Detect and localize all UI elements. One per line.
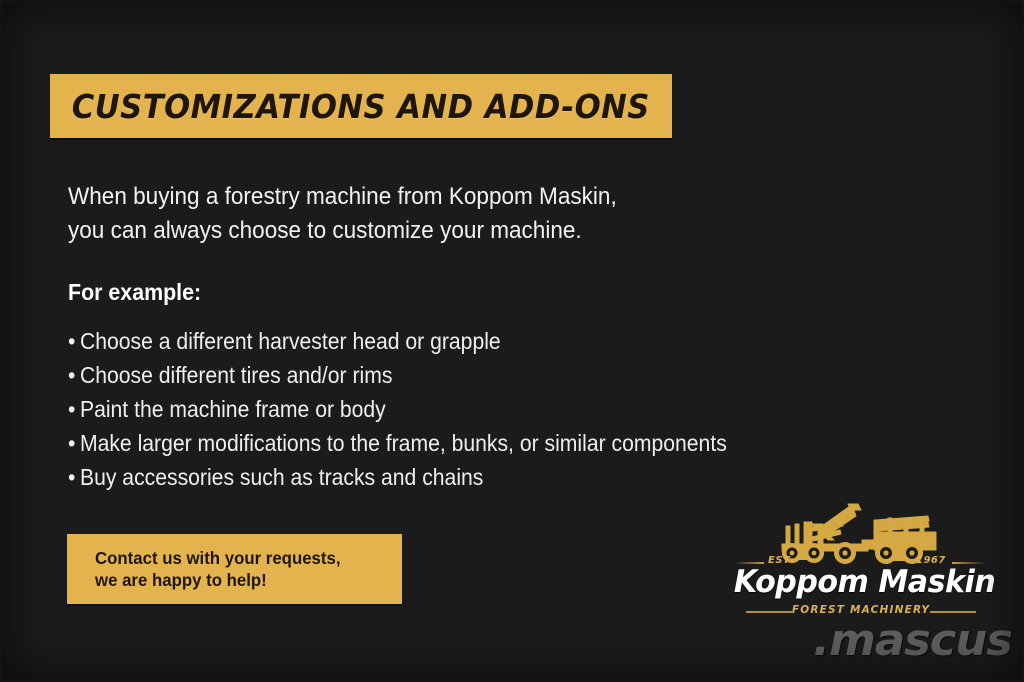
list-item-label: Choose a different harvester head or gra… — [80, 328, 501, 354]
list-item-label: Paint the machine frame or body — [80, 396, 386, 422]
title-banner: CUSTOMIZATIONS AND ADD-ONS — [50, 74, 672, 138]
bullet-icon: • — [68, 358, 80, 392]
bullet-icon: • — [68, 392, 80, 426]
intro-paragraph: When buying a forestry machine from Kopp… — [68, 180, 767, 248]
intro-line-1: When buying a forestry machine from Kopp… — [68, 180, 767, 214]
list-item: •Paint the machine frame or body — [68, 392, 850, 426]
list-item-label: Buy accessories such as tracks and chain… — [80, 464, 483, 490]
logo-tagline-rule-right — [930, 611, 976, 613]
mascus-watermark: .mascus — [749, 615, 1012, 666]
promotional-poster: CUSTOMIZATIONS AND ADD-ONS When buying a… — [0, 0, 1024, 682]
list-item: •Choose a different harvester head or gr… — [68, 324, 850, 358]
customization-options-list: •Choose a different harvester head or gr… — [68, 324, 918, 494]
bullet-icon: • — [68, 426, 80, 460]
intro-line-2: you can always choose to customize your … — [68, 214, 767, 248]
list-item: •Make larger modifications to the frame,… — [68, 426, 850, 460]
bullet-icon: • — [68, 324, 80, 358]
bullet-icon: • — [68, 460, 80, 494]
list-item-label: Choose different tires and/or rims — [80, 362, 392, 388]
for-example-label: For example: — [68, 279, 201, 306]
contact-cta-box[interactable]: Contact us with your requests, we are ha… — [67, 534, 402, 604]
list-item: •Choose different tires and/or rims — [68, 358, 850, 392]
contact-line-1: Contact us with your requests, — [95, 547, 390, 569]
page-title: CUSTOMIZATIONS AND ADD-ONS — [72, 87, 650, 126]
list-item: •Buy accessories such as tracks and chai… — [68, 460, 850, 494]
contact-line-2: we are happy to help! — [95, 569, 390, 591]
logo-brand-name: Koppom Maskin — [734, 564, 988, 600]
koppom-maskin-logo: EST 1967 Koppom Maskin FOREST MACHINERY — [730, 500, 992, 616]
list-item-label: Make larger modifications to the frame, … — [80, 430, 727, 456]
